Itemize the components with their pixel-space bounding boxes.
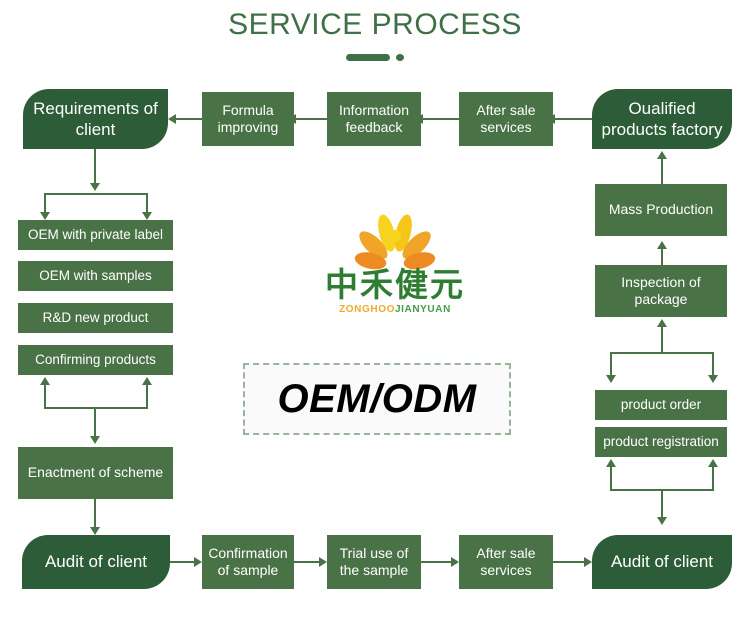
node-label: product registration <box>603 434 719 451</box>
node-label: After sale services <box>463 102 549 137</box>
node-product-registration[interactable]: product registration <box>595 427 727 457</box>
node-label: Confirming products <box>35 352 156 369</box>
connector-bracket-bar-order <box>610 352 714 354</box>
node-label: Trial use of the sample <box>331 545 417 580</box>
connector-trial-to-aftersale <box>421 561 451 563</box>
arrowhead-down <box>40 212 50 220</box>
node-label: Mass Production <box>609 201 713 219</box>
node-qualified-products-factory[interactable]: Oualified products factory <box>592 89 732 149</box>
arrowhead-left <box>168 114 176 124</box>
connector-mass-to-factory <box>661 159 663 184</box>
node-label: OEM with private label <box>28 227 163 244</box>
connector-confirm-right-leg <box>146 385 148 409</box>
title-divider <box>0 50 750 64</box>
arrowhead-right <box>584 557 592 567</box>
node-inspection-of-package[interactable]: Inspection of package <box>595 265 727 317</box>
arrowhead-down <box>142 212 152 220</box>
connector-confirmation-to-trial <box>294 561 319 563</box>
page-title: SERVICE PROCESS <box>0 8 750 42</box>
connector-registration-left-leg <box>610 467 612 491</box>
node-label: Inspection of package <box>599 274 723 309</box>
connector-inspection-to-mass <box>661 249 663 265</box>
connector-aftersale-to-infofeedback <box>423 118 459 120</box>
arrowhead-down <box>657 517 667 525</box>
node-oem-with-samples[interactable]: OEM with samples <box>18 261 173 291</box>
arrowhead-down <box>90 436 100 444</box>
node-confirmation-of-sample[interactable]: Confirmation of sample <box>202 535 294 589</box>
node-label: Audit of client <box>611 551 713 572</box>
title-dot-icon <box>396 54 404 61</box>
connector-branch-bar-top <box>44 193 148 195</box>
node-oem-with-private-label[interactable]: OEM with private label <box>18 220 173 250</box>
service-process-diagram: SERVICE PROCESS Requirements of client F… <box>0 0 750 625</box>
node-label: Requirements of client <box>27 98 164 141</box>
connector-to-enactment <box>94 407 96 438</box>
connector-audit-to-confirmation <box>170 561 194 563</box>
arrowhead-left <box>415 114 423 124</box>
node-label: After sale services <box>463 545 549 580</box>
arrowhead-down <box>90 527 100 535</box>
arrowhead-down <box>90 183 100 191</box>
arrowhead-up <box>657 151 667 159</box>
node-audit-of-client-right[interactable]: Audit of client <box>592 535 732 589</box>
node-mass-production[interactable]: Mass Production <box>595 184 727 236</box>
connector-confirm-left-leg <box>44 385 46 409</box>
connector-order-right-leg <box>712 352 714 377</box>
arrowhead-up <box>142 377 152 385</box>
arrowhead-right <box>319 557 327 567</box>
node-label: OEM with samples <box>39 268 152 285</box>
logo-latin-part-b: JIANYUAN <box>395 304 451 315</box>
node-product-order[interactable]: product order <box>595 390 727 420</box>
arrowhead-left <box>288 114 296 124</box>
oem-odm-label: OEM/ODM <box>277 377 476 422</box>
arrowhead-right <box>194 557 202 567</box>
node-formula-improving[interactable]: Formula improving <box>202 92 294 146</box>
connector-requirements-down <box>94 149 96 185</box>
company-logo: 中禾健元 ZONGHOOJIANYUAN <box>305 210 485 325</box>
node-label: R&D new product <box>43 310 149 327</box>
node-label: Confirmation of sample <box>206 545 290 580</box>
oem-odm-plaque: OEM/ODM <box>243 363 511 435</box>
logo-latin-name: ZONGHOOJIANYUAN <box>305 304 485 315</box>
node-label: Formula improving <box>206 102 290 137</box>
arrowhead-up <box>657 319 667 327</box>
arrowhead-down <box>708 375 718 383</box>
arrowhead-up <box>40 377 50 385</box>
connector-order-left-leg <box>610 352 612 377</box>
node-audit-of-client-left[interactable]: Audit of client <box>22 535 170 589</box>
node-enactment-of-scheme[interactable]: Enactment of scheme <box>18 447 173 499</box>
flower-icon <box>339 210 451 272</box>
node-label: Information feedback <box>331 102 417 137</box>
node-requirements-of-client[interactable]: Requirements of client <box>23 89 168 149</box>
arrowhead-up <box>606 459 616 467</box>
node-rd-new-product[interactable]: R&D new product <box>18 303 173 333</box>
node-confirming-products[interactable]: Confirming products <box>18 345 173 375</box>
node-information-feedback[interactable]: Information feedback <box>327 92 421 146</box>
connector-up-to-inspection <box>661 327 663 354</box>
connector-factory-to-aftersale <box>555 118 592 120</box>
arrowhead-left <box>547 114 555 124</box>
connector-enactment-to-audit <box>94 499 96 529</box>
arrowhead-up <box>657 241 667 249</box>
node-label: Audit of client <box>45 551 147 572</box>
title-dash-icon <box>346 54 390 61</box>
connector-bracket-bar-confirm <box>44 407 148 409</box>
arrowhead-up <box>708 459 718 467</box>
connector-aftersale-to-audit-right <box>553 561 584 563</box>
logo-chinese-name: 中禾健元 <box>305 268 485 301</box>
node-after-sale-services-bottom[interactable]: After sale services <box>459 535 553 589</box>
connector-formula-to-requirements <box>176 118 202 120</box>
logo-latin-part-a: ZONGHOO <box>339 304 395 315</box>
node-label: Oualified products factory <box>596 98 728 141</box>
node-trial-use-of-the-sample[interactable]: Trial use of the sample <box>327 535 421 589</box>
arrowhead-right <box>451 557 459 567</box>
node-label: product order <box>621 397 701 414</box>
node-after-sale-services-top[interactable]: After sale services <box>459 92 553 146</box>
connector-infofeedback-to-formula <box>296 118 327 120</box>
connector-registration-right-leg <box>712 467 714 491</box>
node-label: Enactment of scheme <box>28 464 163 482</box>
connector-to-audit-right <box>661 489 663 519</box>
arrowhead-down <box>606 375 616 383</box>
